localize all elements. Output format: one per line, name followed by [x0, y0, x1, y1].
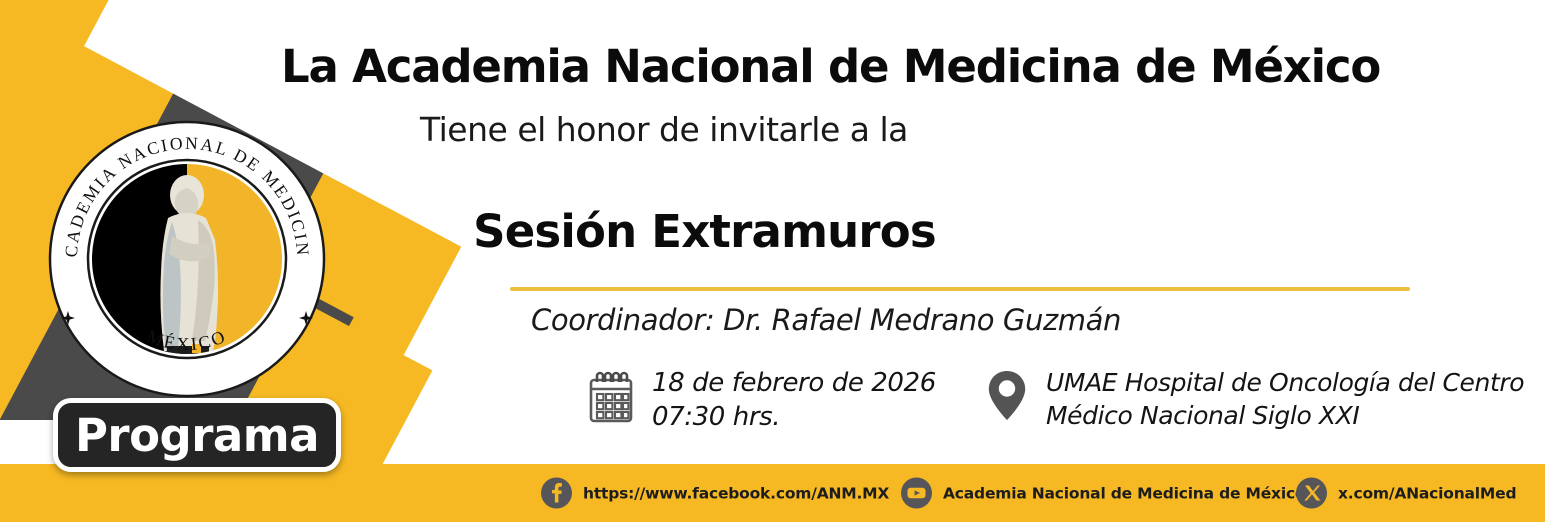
gold-divider — [510, 287, 1410, 291]
venue-block: UMAE Hospital de Oncología del Centro Mé… — [984, 366, 1524, 432]
date-time-text: 18 de febrero de 2026 07:30 hrs. — [652, 366, 936, 435]
calendar-icon — [586, 370, 636, 426]
session-title-text: Sesión Extramuros — [473, 205, 936, 258]
academy-seal-icon: ACADEMIA NACIONAL DE MEDICINA MÉXICO — [46, 118, 328, 400]
social-label-youtube: Academia Nacional de Medicina de México — [943, 484, 1305, 502]
coordinator-line: Coordinador: Dr. Rafael Medrano Guzmán — [531, 303, 1121, 337]
x-twitter-icon — [1296, 478, 1327, 509]
date-time-block: 18 de febrero de 2026 07:30 hrs. — [586, 366, 936, 435]
venue-line-2: Médico Nacional Siglo XXI — [1046, 399, 1524, 432]
venue-text: UMAE Hospital de Oncología del Centro Mé… — [1046, 366, 1524, 432]
institution-title: La Academia Nacional de Medicina de Méxi… — [281, 40, 1380, 93]
youtube-icon — [901, 478, 932, 509]
date-line: 18 de febrero de 2026 — [652, 366, 936, 400]
time-line: 07:30 hrs. — [652, 400, 936, 434]
social-link-facebook[interactable]: https://www.facebook.com/ANM.MX — [541, 478, 889, 509]
programa-badge-label: Programa — [75, 413, 319, 458]
social-links-bar: https://www.facebook.com/ANM.MX Academia… — [0, 464, 1545, 522]
invitation-line: Tiene el honor de invitarle a la — [420, 110, 908, 149]
social-link-youtube[interactable]: Academia Nacional de Medicina de México — [901, 478, 1305, 509]
social-label-x: x.com/ANacionalMed — [1338, 484, 1516, 502]
session-title: Sesión Extramuros — [0, 205, 1545, 258]
academy-seal-logo: ACADEMIA NACIONAL DE MEDICINA MÉXICO — [46, 118, 328, 400]
programa-badge[interactable]: Programa — [53, 398, 341, 472]
event-invitation-banner: ACADEMIA NACIONAL DE MEDICINA MÉXICO Pro… — [0, 0, 1545, 522]
facebook-icon — [541, 478, 572, 509]
map-pin-icon — [984, 368, 1030, 424]
social-label-facebook: https://www.facebook.com/ANM.MX — [583, 484, 889, 502]
venue-line-1: UMAE Hospital de Oncología del Centro — [1046, 366, 1524, 399]
social-link-x-twitter[interactable]: x.com/ANacionalMed — [1296, 478, 1516, 509]
